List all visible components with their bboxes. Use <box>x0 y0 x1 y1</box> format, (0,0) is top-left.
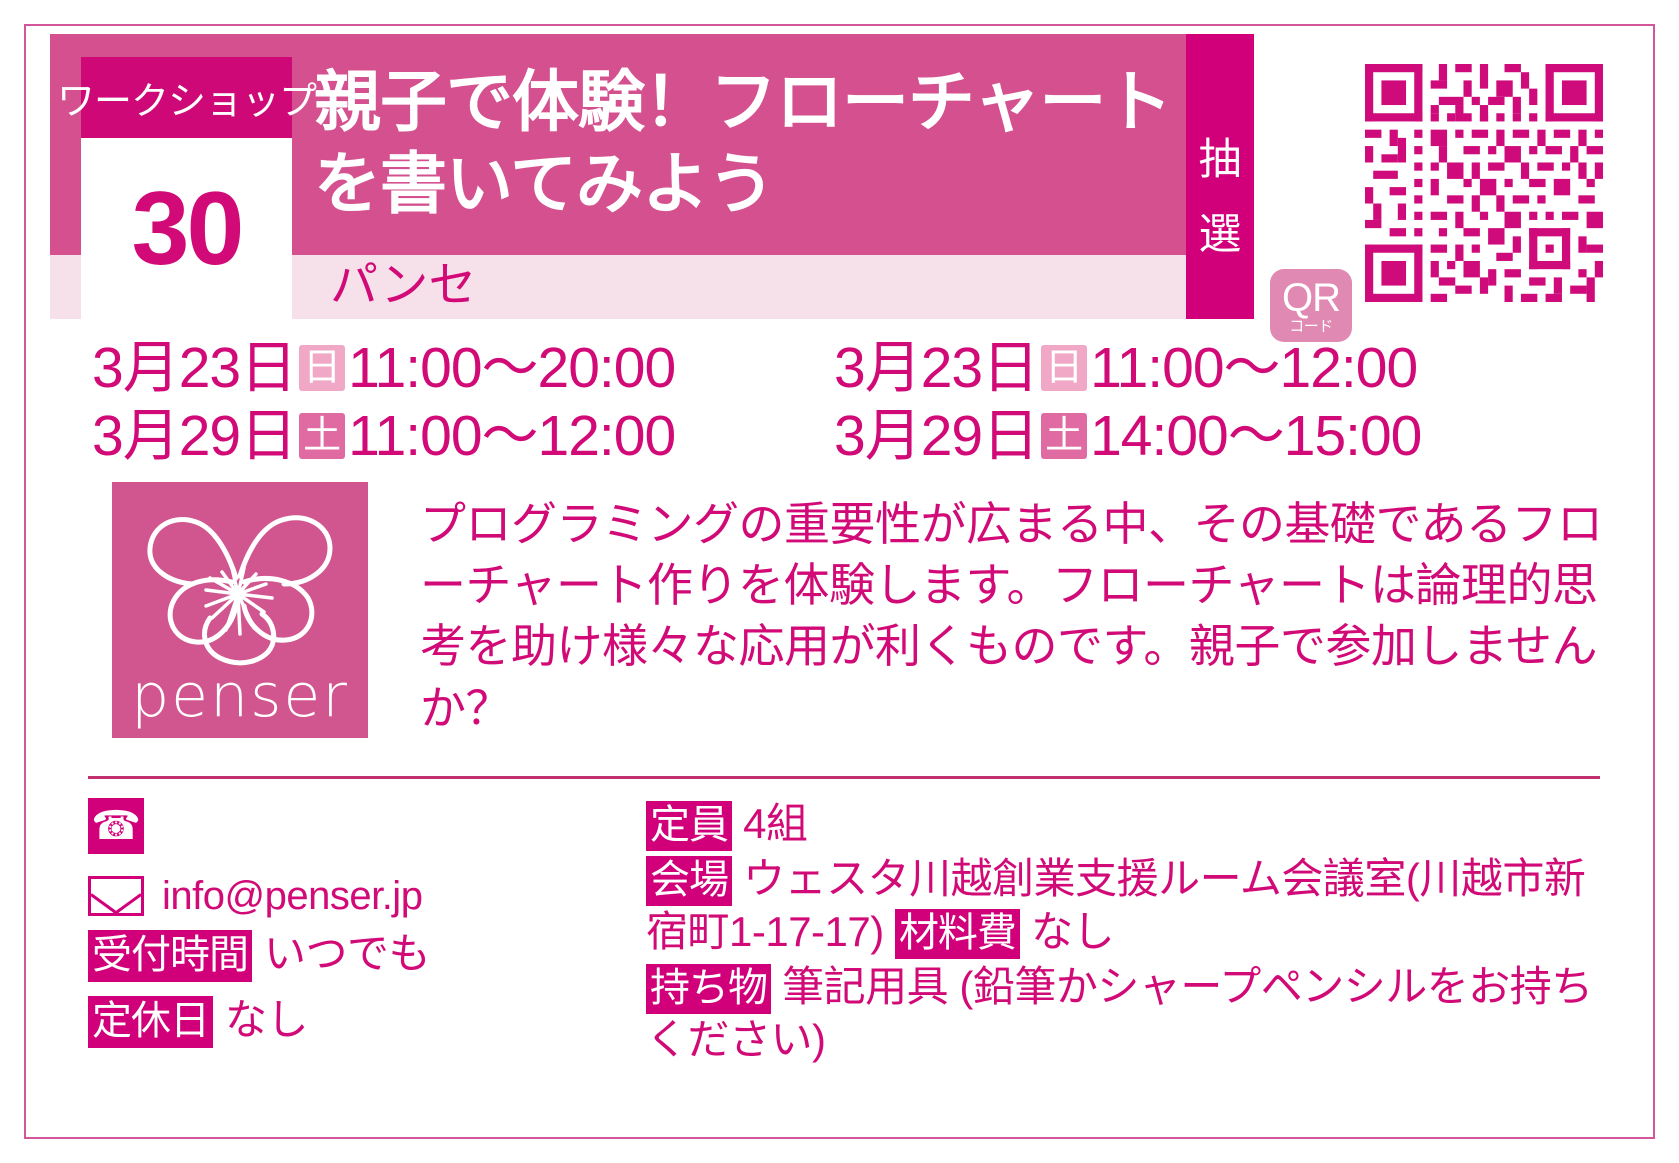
venue-row: 会場 ウェスタ川越創業支援ルーム会議室(川越市新宿町1-17-17) 材料費 な… <box>646 853 1606 959</box>
qr-badge-label: QR <box>1282 278 1340 318</box>
schedule-date: 3月29日 <box>92 408 296 465</box>
organizer-logo: penser <box>112 482 368 738</box>
mail-icon <box>88 876 144 916</box>
entry-number-box: 30 <box>81 138 292 319</box>
reception-hours-row: 受付時間 いつでも <box>88 930 608 982</box>
event-description: プログラミングの重要性が広まる中、その基礎であるフローチャート作りを体験します。… <box>420 494 1612 739</box>
workshop-category-badge: ワークショップ <box>81 57 292 138</box>
schedule-time: 11:00〜12:00 <box>348 408 675 465</box>
schedule-item: 3月23日 日 11:00〜20:00 <box>92 336 675 400</box>
schedule-day-of-week: 日 <box>299 345 345 391</box>
entry-number: 30 <box>132 177 242 281</box>
phone-icon: ☎ <box>88 798 144 854</box>
schedule-date: 3月23日 <box>92 340 296 397</box>
organizer-name: パンセ <box>330 260 476 313</box>
section-divider <box>88 776 1600 779</box>
schedule-day-of-week: 土 <box>1041 413 1087 459</box>
schedule-date: 3月23日 <box>834 340 1038 397</box>
pansy-flower-icon <box>136 490 344 670</box>
event-card: ワークショップ 30 親子で体験！フローチャート を書いてみよう パンセ 抽 選… <box>24 24 1655 1139</box>
closed-days-label: 定休日 <box>88 996 213 1048</box>
schedule-time: 11:00〜20:00 <box>348 340 675 397</box>
lottery-char-1: 抽 <box>1199 139 1242 182</box>
fee-label: 材料費 <box>895 909 1020 959</box>
schedule-item: 3月23日 日 11:00〜12:00 <box>834 336 1417 400</box>
schedule-time: 11:00〜12:00 <box>1090 340 1417 397</box>
capacity-label: 定員 <box>646 801 732 851</box>
qr-code-image[interactable] <box>1365 64 1603 302</box>
title-line-2: を書いてみよう <box>314 144 1144 226</box>
body-area: penser プログラミングの重要性が広まる中、その基礎であるフローチャート作り… <box>50 474 1640 754</box>
venue-value: ウェスタ川越創業支援ルーム会議室(川越市新宿町1-17-17) <box>646 855 1585 955</box>
schedule-list: 3月23日 日 11:00〜20:00 3月23日 日 11:00〜12:00 … <box>50 326 1640 468</box>
schedule-day-of-week: 日 <box>1041 345 1087 391</box>
schedule-day-of-week: 土 <box>299 413 345 459</box>
capacity-value: 4組 <box>743 800 807 847</box>
capacity-row: 定員 4組 <box>646 798 1606 851</box>
closed-days-row: 定休日 なし <box>88 996 608 1048</box>
bring-value: 筆記用具 (鉛筆かシャープペンシルをお持ちください) <box>646 963 1593 1063</box>
closed-days-value: なし <box>225 997 308 1043</box>
email-row: info@penser.jp <box>88 876 608 916</box>
card-header: ワークショップ 30 親子で体験！フローチャート を書いてみよう パンセ <box>50 34 1186 319</box>
reception-hours-label: 受付時間 <box>88 930 252 982</box>
schedule-date: 3月29日 <box>834 408 1038 465</box>
contact-block: ☎ info@penser.jp 受付時間 いつでも 定休日 なし <box>88 798 608 1048</box>
email-address[interactable]: info@penser.jp <box>162 876 422 916</box>
title-line-1: 親子で体験！フローチャート <box>314 62 1144 144</box>
schedule-time: 14:00〜15:00 <box>1090 408 1421 465</box>
reception-hours-value: いつでも <box>264 931 430 977</box>
bring-label: 持ち物 <box>646 964 771 1014</box>
schedule-item: 3月29日 土 11:00〜12:00 <box>92 404 675 468</box>
fee-value: なし <box>1031 908 1114 955</box>
bring-row: 持ち物 筆記用具 (鉛筆かシャープペンシルをお持ちください) <box>646 961 1606 1065</box>
lottery-char-2: 選 <box>1199 214 1242 257</box>
page-title: 親子で体験！フローチャート を書いてみよう <box>314 62 1144 225</box>
logo-wordmark: penser <box>112 666 368 726</box>
details-block: 定員 4組 会場 ウェスタ川越創業支援ルーム会議室(川越市新宿町1-17-17)… <box>646 798 1606 1067</box>
schedule-item: 3月29日 土 14:00〜15:00 <box>834 404 1421 468</box>
lottery-label: 抽 選 <box>1186 34 1254 319</box>
venue-label: 会場 <box>646 856 732 906</box>
